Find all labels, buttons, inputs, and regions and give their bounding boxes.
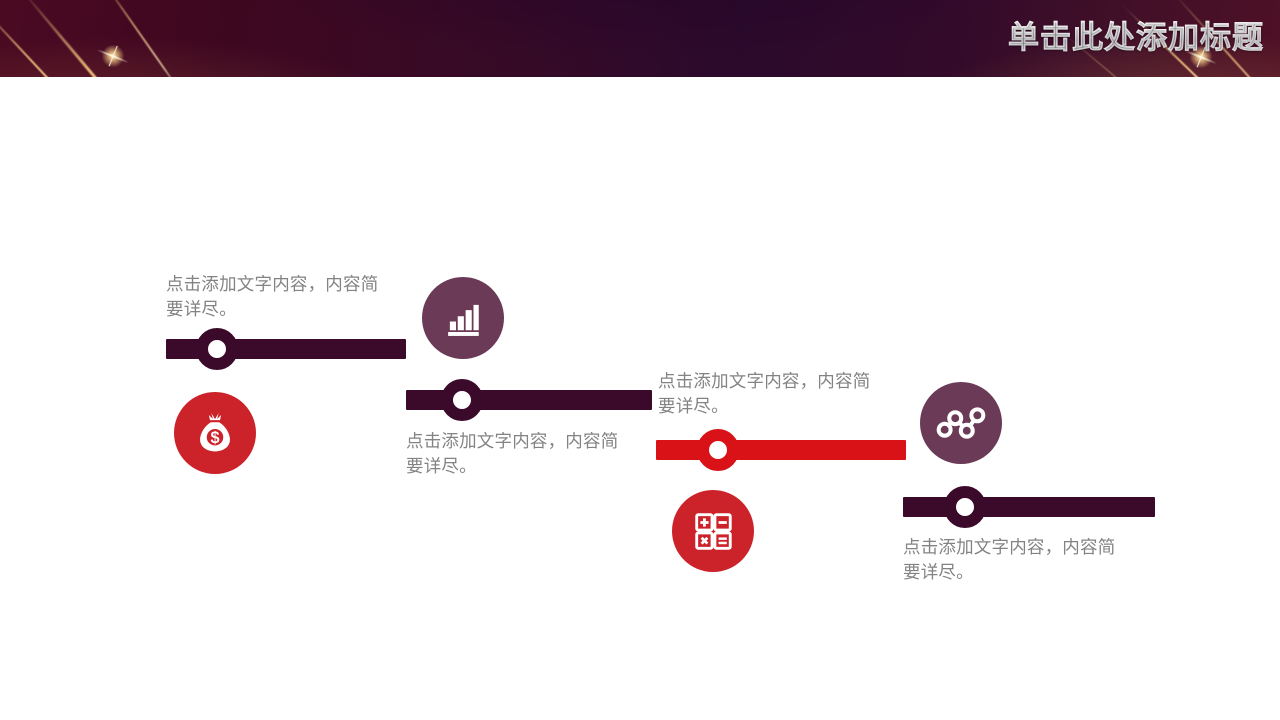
timeline-node-3[interactable] bbox=[697, 429, 739, 471]
item-icon-circle-1[interactable]: $ bbox=[174, 392, 256, 474]
item-icon-circle-2[interactable] bbox=[422, 277, 504, 359]
bar-chart-icon bbox=[442, 297, 484, 339]
svg-text:$: $ bbox=[210, 429, 219, 447]
item-caption-2[interactable]: 点击添加文字内容，内容简要详尽。 bbox=[406, 429, 636, 479]
slide-title[interactable]: 单击此处添加标题 bbox=[1008, 17, 1264, 59]
gold-spark-icon bbox=[100, 43, 126, 69]
timeline-bar-3[interactable] bbox=[656, 440, 906, 460]
slide-header-banner: 单击此处添加标题 bbox=[0, 0, 1280, 77]
gold-streak-icon bbox=[17, 0, 180, 77]
network-nodes-icon bbox=[936, 398, 986, 448]
timeline-node-1[interactable] bbox=[196, 328, 238, 370]
timeline-bar-4[interactable] bbox=[903, 497, 1155, 517]
timeline-node-2[interactable] bbox=[441, 379, 483, 421]
calculator-icon bbox=[690, 508, 736, 554]
item-caption-4[interactable]: 点击添加文字内容，内容简要详尽。 bbox=[903, 535, 1133, 585]
timeline-diagram: 点击添加文字内容，内容简要详尽。 $ 点击添加文字内容，内容简要详尽。 bbox=[0, 77, 1280, 720]
item-icon-circle-4[interactable] bbox=[920, 382, 1002, 464]
presentation-slide: 单击此处添加标题 点击添加文字内容，内容简要详尽。 $ bbox=[0, 0, 1280, 720]
item-caption-3[interactable]: 点击添加文字内容，内容简要详尽。 bbox=[658, 369, 888, 419]
timeline-node-4[interactable] bbox=[944, 486, 986, 528]
gold-streak-icon bbox=[0, 0, 107, 77]
item-caption-1[interactable]: 点击添加文字内容，内容简要详尽。 bbox=[166, 272, 396, 322]
money-bag-icon: $ bbox=[192, 410, 238, 456]
gold-streak-icon bbox=[95, 0, 182, 77]
item-icon-circle-3[interactable] bbox=[672, 490, 754, 572]
